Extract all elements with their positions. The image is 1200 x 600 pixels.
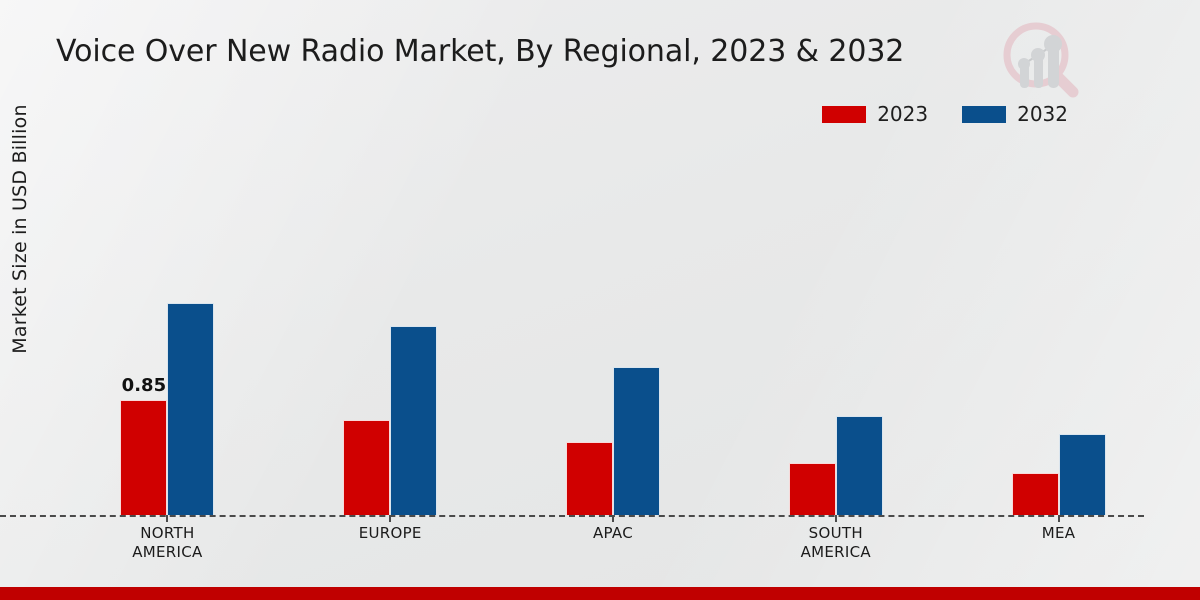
legend-label-2032: 2032 xyxy=(1017,104,1068,124)
tick-south-america: SOUTHAMERICA xyxy=(724,515,947,575)
footer-accent-band xyxy=(0,587,1200,600)
y-axis-title: Market Size in USD Billion xyxy=(9,59,31,399)
chart-canvas: Voice Over New Radio Market, By Regional… xyxy=(0,0,1200,600)
category-label-north-america: NORTHAMERICA xyxy=(132,524,202,562)
bar-2032-apac[interactable] xyxy=(613,367,660,515)
bar-2023-mea[interactable] xyxy=(1012,473,1059,515)
bar-pair xyxy=(789,416,883,515)
bar-2032-south-america[interactable] xyxy=(836,416,883,515)
tick-mark xyxy=(1058,515,1060,522)
tick-apac: APAC xyxy=(502,515,725,575)
tick-north-america: NORTHAMERICA xyxy=(56,515,279,575)
bar-group-north-america: 0.85 xyxy=(56,140,279,515)
bar-2032-north-america[interactable] xyxy=(167,303,214,515)
bar-group-mea xyxy=(947,140,1170,515)
tick-mark xyxy=(389,515,391,522)
chart-legend: 2023 2032 xyxy=(822,101,1068,127)
bar-2023-apac[interactable] xyxy=(566,442,613,515)
bar-group-apac xyxy=(502,140,725,515)
bar-pair xyxy=(566,367,660,515)
tick-europe: EUROPE xyxy=(279,515,502,575)
bar-2023-europe[interactable] xyxy=(343,420,390,515)
bars-container: 0.85 xyxy=(56,140,1170,515)
x-axis-tick-labels: NORTHAMERICA EUROPE APAC SOUTHAMERICA ME… xyxy=(56,515,1170,575)
bar-pair xyxy=(343,326,437,515)
category-label-europe: EUROPE xyxy=(359,524,422,543)
bar-group-south-america xyxy=(724,140,947,515)
bar-value-label: 0.85 xyxy=(122,375,166,396)
tick-mark xyxy=(612,515,614,522)
tick-mark xyxy=(835,515,837,522)
tick-mea: MEA xyxy=(947,515,1170,575)
bar-2023-south-america[interactable] xyxy=(789,463,836,515)
category-label-south-america: SOUTHAMERICA xyxy=(801,524,871,562)
bar-2032-europe[interactable] xyxy=(390,326,437,515)
tick-mark xyxy=(166,515,168,522)
category-label-apac: APAC xyxy=(593,524,633,543)
legend-item-2023[interactable]: 2023 xyxy=(822,104,928,124)
chart-title: Voice Over New Radio Market, By Regional… xyxy=(56,34,904,69)
legend-label-2023: 2023 xyxy=(877,104,928,124)
bar-pair xyxy=(1012,434,1106,515)
watermark-logo xyxy=(995,14,1087,106)
legend-swatch-2023 xyxy=(822,106,866,123)
bar-group-europe xyxy=(279,140,502,515)
bar-pair: 0.85 xyxy=(120,303,214,515)
legend-swatch-2032 xyxy=(962,106,1006,123)
bar-2023-north-america[interactable]: 0.85 xyxy=(120,400,167,515)
bar-2032-mea[interactable] xyxy=(1059,434,1106,515)
category-label-mea: MEA xyxy=(1042,524,1076,543)
legend-item-2032[interactable]: 2032 xyxy=(962,104,1068,124)
